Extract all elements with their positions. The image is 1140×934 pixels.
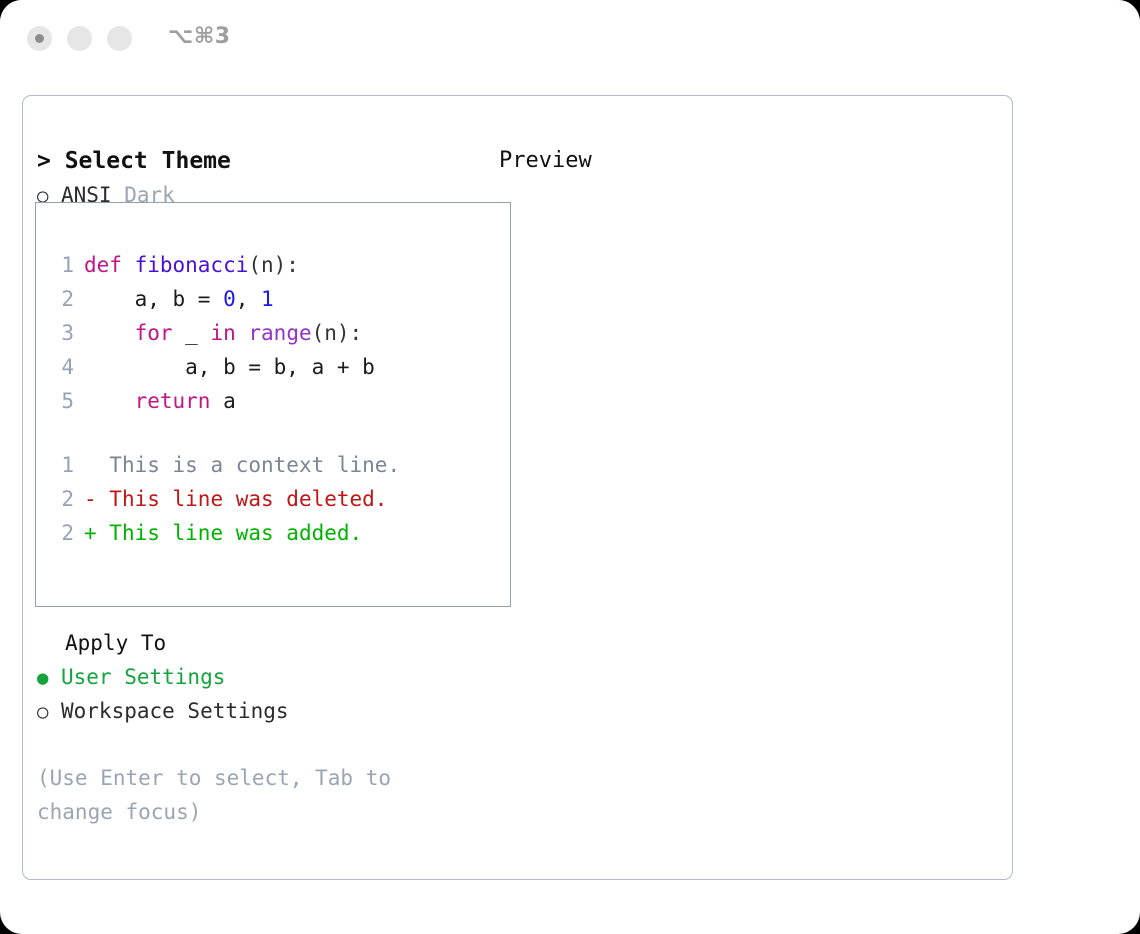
apply-to-section: Apply To ●User Settings○Workspace Settin… xyxy=(37,626,487,728)
main-panel: > Select Theme ○ANSI Dark○Atom One Dark○… xyxy=(22,95,1013,880)
code-line-number: 2 xyxy=(46,282,74,316)
window-button-close-dot xyxy=(35,34,44,43)
preview-column: Preview xyxy=(499,144,999,178)
code-token-num: 0 xyxy=(223,287,236,311)
code-token-txt: a, b = b, a + b xyxy=(84,355,375,379)
window-button-minimize[interactable] xyxy=(67,26,92,51)
diff-lines-container: 1 This is a context line.2- This line wa… xyxy=(46,448,506,550)
code-line: 2 a, b = 0, 1 xyxy=(46,282,506,316)
preview-box: 1def fibonacci(n):2 a, b = 0, 13 for _ i… xyxy=(35,202,511,607)
code-token-punc: (n): xyxy=(312,321,363,345)
radio-unselected-icon: ○ xyxy=(37,695,61,729)
diff-line-del: 2- This line was deleted. xyxy=(46,482,506,516)
code-token-kw: in xyxy=(210,321,248,345)
preview-header: Preview xyxy=(499,144,999,178)
code-preview-area: 1def fibonacci(n):2 a, b = 0, 13 for _ i… xyxy=(46,248,506,550)
code-line: 5 return a xyxy=(46,384,506,418)
code-line-number: 3 xyxy=(46,316,74,350)
code-token-kw: for xyxy=(84,321,185,345)
code-line: 1def fibonacci(n): xyxy=(46,248,506,282)
app-window: ⌥⌘3 > Select Theme ○ANSI Dark○Atom One D… xyxy=(0,0,1140,934)
code-token-num: 1 xyxy=(261,287,274,311)
code-token-punc: (n): xyxy=(248,253,299,277)
apply-to-option-workspace-settings[interactable]: ○Workspace Settings xyxy=(37,694,487,728)
diff-line-add: 2+ This line was added. xyxy=(46,516,506,550)
code-lines-container: 1def fibonacci(n):2 a, b = 0, 13 for _ i… xyxy=(46,248,506,418)
window-button-close[interactable] xyxy=(27,26,52,51)
code-line-number: 5 xyxy=(46,384,74,418)
apply-to-label: Apply To xyxy=(37,626,487,660)
window-button-maximize[interactable] xyxy=(107,26,132,51)
keyboard-hint-text: (Use Enter to select, Tab to change focu… xyxy=(37,761,447,829)
select-theme-header: > Select Theme xyxy=(37,144,487,178)
code-line-number: 4 xyxy=(46,350,74,384)
apply-to-option-user-settings[interactable]: ●User Settings xyxy=(37,660,487,694)
radio-selected-icon: ● xyxy=(37,661,61,695)
code-line: 4 a, b = b, a + b xyxy=(46,350,506,384)
code-token-kw: return xyxy=(84,389,223,413)
code-token-txt: _ xyxy=(185,321,210,345)
diff-line-number: 2 xyxy=(46,482,74,516)
window-titlebar: ⌥⌘3 xyxy=(0,0,1140,78)
diff-text: This line was added. xyxy=(109,521,362,545)
keyboard-shortcut-label: ⌥⌘3 xyxy=(168,24,231,49)
apply-to-option-name: Workspace Settings xyxy=(61,699,289,723)
diff-text: This is a context line. xyxy=(109,453,400,477)
diff-marker xyxy=(84,453,109,477)
code-token-fn: fibonacci xyxy=(135,253,249,277)
code-token-txt: , xyxy=(236,287,261,311)
diff-line-number: 1 xyxy=(46,448,74,482)
diff-line-number: 2 xyxy=(46,516,74,550)
code-token-txt: a, b = xyxy=(84,287,223,311)
diff-line-ctx: 1 This is a context line. xyxy=(46,448,506,482)
apply-to-option-name: User Settings xyxy=(61,665,225,689)
code-token-call: range xyxy=(248,321,311,345)
diff-marker: + xyxy=(84,521,109,545)
apply-to-rows-container: ●User Settings○Workspace Settings xyxy=(37,660,487,728)
code-line: 3 for _ in range(n): xyxy=(46,316,506,350)
diff-text: This line was deleted. xyxy=(109,487,387,511)
code-token-kw: def xyxy=(84,253,135,277)
code-diff-spacer xyxy=(46,418,506,448)
code-token-txt: a xyxy=(223,389,236,413)
diff-marker: - xyxy=(84,487,109,511)
code-line-number: 1 xyxy=(46,248,74,282)
